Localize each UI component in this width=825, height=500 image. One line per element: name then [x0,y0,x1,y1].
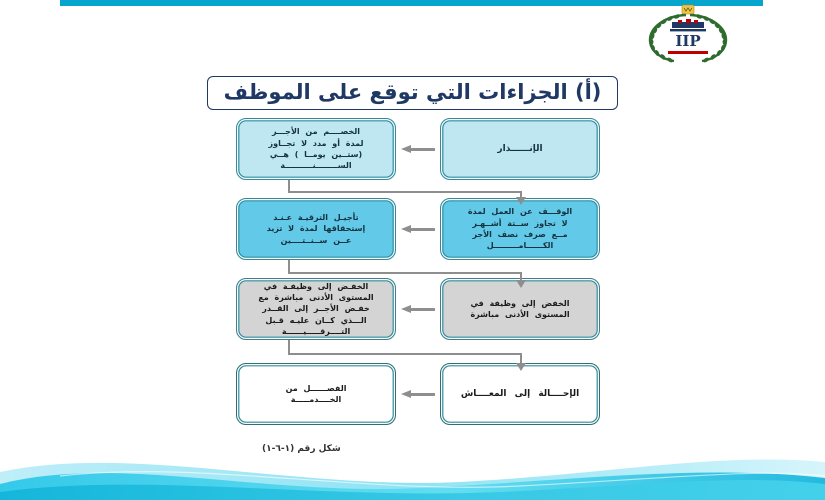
flow-node-text: الإحــــالة إلى المعــــاش [461,388,579,401]
crest-icon [682,5,694,14]
flow-row: الإنــــــذار الخصــــم من الأجـــرلمدة … [236,118,600,180]
flow-arrow-horizontal [401,225,435,234]
flow-node-left[interactable]: تأجيـل الترقيـة عـنـدإستحقاقها لمدة لا ت… [236,198,396,260]
flow-row: الخفض إلى وظيفة فيالمستوى الأدنى مباشرة … [236,278,600,340]
flow-node-text: تأجيـل الترقيـة عـنـدإستحقاقها لمدة لا ت… [267,212,366,246]
flow-node-right[interactable]: الوقـــف عن العمل لمدةلا تجاوز ســتة أشـ… [440,198,600,260]
flow-node-right[interactable]: الإنــــــذار [440,118,600,180]
page-title: (أ) الجزاءات التي توقع على الموظف [224,80,602,104]
flow-node-text: الإنــــــذار [497,143,542,156]
flow-node-text: الخصــــم من الأجـــرلمدة أو مدد لا تجــ… [268,126,363,171]
flow-node-right[interactable]: الإحــــالة إلى المعــــاش [440,363,600,425]
flow-node-text: الوقـــف عن العمل لمدةلا تجاوز ســتة أشـ… [468,206,572,251]
flow-node-left[interactable]: الخصــــم من الأجـــرلمدة أو مدد لا تجــ… [236,118,396,180]
flow-node-text: الخفض إلى وظيفة فيالمستوى الأدنى مباشرة [470,298,569,321]
page-title-wrapper: (أ) الجزاءات التي توقع على الموظف [0,76,825,110]
flow-node-left[interactable]: الفصــــــل منالخــــدمـــــة [236,363,396,425]
flow-node-text: الخفـض إلى وظيفـة فيالمستوى الأدنى مباشر… [258,281,373,338]
flow-arrow-horizontal [401,145,435,154]
logo-acronym: IIP [675,32,700,50]
logo-inner-emblem [670,19,706,31]
flow-connector [236,340,600,341]
flow-node-left[interactable]: الخفـض إلى وظيفـة فيالمستوى الأدنى مباشر… [236,278,396,340]
flow-node-text: الفصــــــل منالخــــدمـــــة [286,383,347,406]
flow-row: الإحــــالة إلى المعــــاش الفصــــــل م… [236,363,600,425]
flow-connector [236,180,600,181]
flow-connector [236,260,600,261]
logo-bottom-arabic [668,51,708,54]
page-title-box: (أ) الجزاءات التي توقع على الموظف [207,76,619,110]
flow-row: الوقـــف عن العمل لمدةلا تجاوز ســتة أشـ… [236,198,600,260]
iip-wreath-logo: IIP [634,4,742,66]
flow-arrow-horizontal [401,305,435,314]
sanctions-flowchart: الإنــــــذار الخصــــم من الأجـــرلمدة … [236,118,600,418]
decorative-wave-footer [0,438,825,500]
document-page: IIP (أ) الجزاءات التي توقع على الموظف ال… [0,0,825,500]
flow-arrow-horizontal [401,390,435,399]
